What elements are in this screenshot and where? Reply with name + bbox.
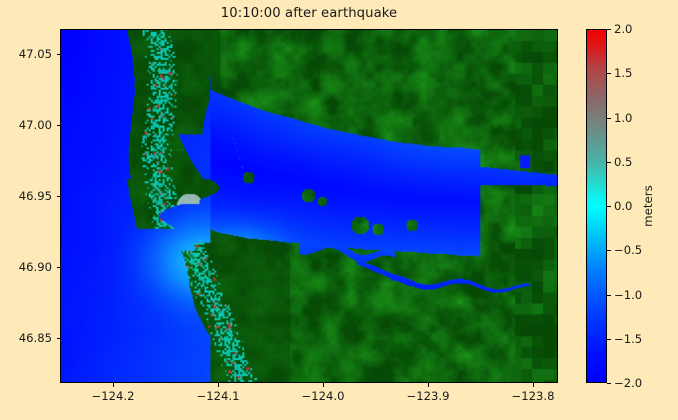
x-tick-mark [323,383,324,387]
x-tick-mark [533,383,534,387]
x-tick-mark [218,383,219,387]
colorbar-tick-label: −2.0 [614,376,642,390]
y-tick-label: 47.05 [8,47,52,61]
colorbar-tick-label: −0.5 [614,243,642,257]
colorbar-tick-label: −1.0 [614,288,642,302]
colorbar-tick-mark [607,29,611,30]
colorbar[interactable] [586,29,607,383]
y-tick-mark [57,196,61,197]
colorbar-tick-mark [607,73,611,74]
colorbar-tick-mark [607,162,611,163]
colorbar-tick-mark [607,383,611,384]
y-tick-mark [57,338,61,339]
colorbar-tick-mark [607,295,611,296]
y-tick-label: 47.00 [8,118,52,132]
y-tick-mark [57,125,61,126]
colorbar-axis-label: meters [641,185,655,227]
x-tick-label: −123.8 [512,389,555,403]
x-tick-label: −124.1 [197,389,240,403]
colorbar-tick-mark [607,250,611,251]
y-tick-mark [57,54,61,55]
colorbar-tick-label: −1.5 [614,332,642,346]
x-tick-label: −124.0 [302,389,345,403]
colorbar-tick-label: 1.5 [614,66,632,80]
x-tick-label: −123.9 [407,389,450,403]
y-tick-label: 46.85 [8,331,52,345]
colorbar-tick-mark [607,339,611,340]
colorbar-tick-label: 2.0 [614,22,632,36]
y-tick-label: 46.95 [8,189,52,203]
colorbar-tick-label: 0.0 [614,199,632,213]
colorbar-tick-label: 0.5 [614,155,632,169]
tsunami-map-image [61,30,557,382]
x-tick-mark [428,383,429,387]
page-title: 10:10:00 after earthquake [60,6,558,21]
x-tick-mark [113,383,114,387]
colorbar-tick-label: 1.0 [614,111,632,125]
colorbar-tick-mark [607,206,611,207]
y-tick-label: 46.90 [8,260,52,274]
x-tick-label: −124.2 [92,389,135,403]
colorbar-tick-mark [607,118,611,119]
matplotlib-figure: 10:10:00 after earthquake 46.8546.9046.9… [0,0,678,420]
y-tick-mark [57,267,61,268]
map-axes[interactable] [60,29,558,383]
